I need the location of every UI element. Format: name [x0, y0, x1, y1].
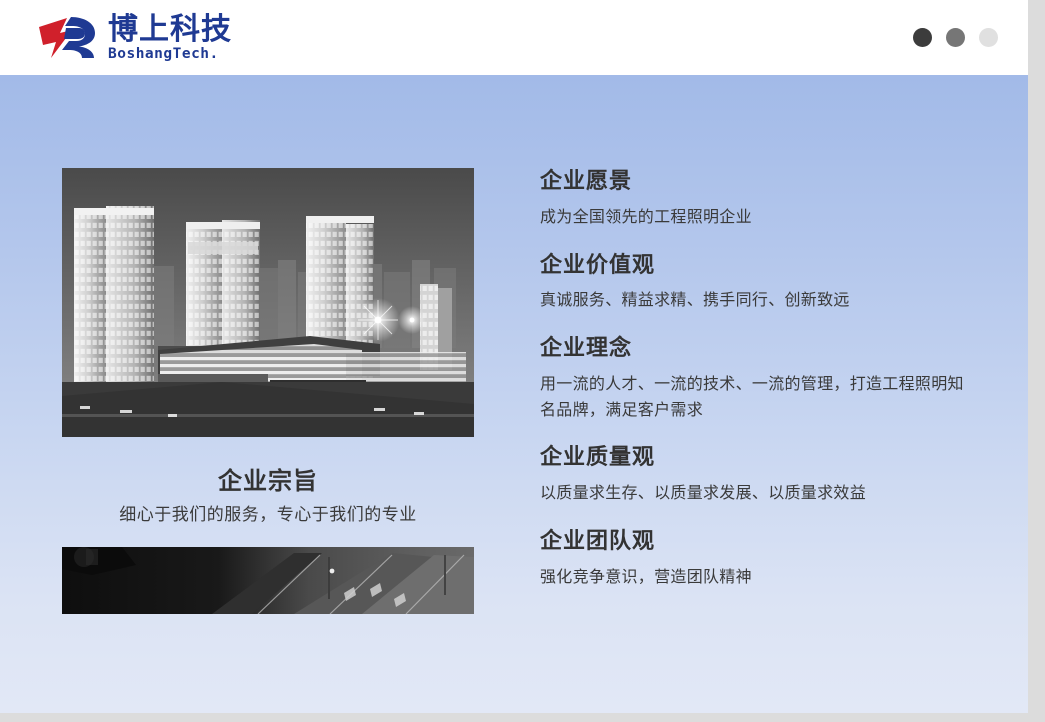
brand-name-en: BoshangTech.	[108, 47, 232, 62]
company-purpose-title: 企业宗旨	[62, 465, 474, 497]
company-purpose: 企业宗旨 细心于我们的服务，专心于我们的专业	[62, 465, 474, 529]
boshang-logo-mark-icon	[36, 13, 102, 63]
value-text: 真诚服务、精益求精、携手同行、创新致远	[540, 287, 970, 313]
page-content: 博上科技 BoshangTech.	[0, 0, 1028, 713]
value-item-vision: 企业愿景 成为全国领先的工程照明企业	[540, 168, 992, 230]
vertical-scrollbar[interactable]	[1028, 0, 1045, 713]
carousel-dots[interactable]	[913, 28, 1006, 47]
carousel-dot-3[interactable]	[979, 28, 998, 47]
left-column: 企业宗旨 细心于我们的服务，专心于我们的专业	[62, 168, 474, 614]
value-title: 企业价值观	[540, 252, 992, 281]
value-item-quality: 企业质量观 以质量求生存、以质量求发展、以质量求效益	[540, 444, 992, 506]
browser-viewport: 博上科技 BoshangTech.	[0, 0, 1045, 722]
highway-night-photo-icon	[62, 547, 474, 614]
value-item-team: 企业团队观 强化竞争意识，营造团队精神	[540, 528, 992, 590]
value-title: 企业质量观	[540, 444, 992, 473]
value-text: 以质量求生存、以质量求发展、以质量求效益	[540, 480, 970, 506]
main-content: 企业宗旨 细心于我们的服务，专心于我们的专业	[0, 75, 1028, 713]
site-header: 博上科技 BoshangTech.	[0, 0, 1028, 75]
carousel-dot-1[interactable]	[913, 28, 932, 47]
city-skyline-night-photo-icon	[62, 168, 474, 437]
value-title: 企业理念	[540, 335, 992, 364]
value-item-philosophy: 企业理念 用一流的人才、一流的技术、一流的管理，打造工程照明知名品牌，满足客户需…	[540, 335, 992, 422]
brand-logo[interactable]: 博上科技 BoshangTech.	[36, 13, 232, 63]
company-purpose-text: 细心于我们的服务，专心于我们的专业	[62, 503, 474, 529]
carousel-dot-2[interactable]	[946, 28, 965, 47]
value-text: 成为全国领先的工程照明企业	[540, 204, 970, 230]
value-title: 企业愿景	[540, 168, 992, 197]
brand-wordmark: 博上科技 BoshangTech.	[108, 14, 232, 62]
horizontal-scrollbar[interactable]	[0, 713, 1045, 722]
brand-name-cn: 博上科技	[108, 14, 232, 46]
value-title: 企业团队观	[540, 528, 992, 557]
value-text: 强化竞争意识，营造团队精神	[540, 564, 970, 590]
value-item-values: 企业价值观 真诚服务、精益求精、携手同行、创新致远	[540, 252, 992, 314]
value-text: 用一流的人才、一流的技术、一流的管理，打造工程照明知名品牌，满足客户需求	[540, 371, 970, 423]
scrollbar-corner	[1028, 713, 1045, 722]
right-column: 企业愿景 成为全国领先的工程照明企业 企业价值观 真诚服务、精益求精、携手同行、…	[540, 168, 992, 589]
content-columns: 企业宗旨 细心于我们的服务，专心于我们的专业	[0, 75, 1028, 713]
